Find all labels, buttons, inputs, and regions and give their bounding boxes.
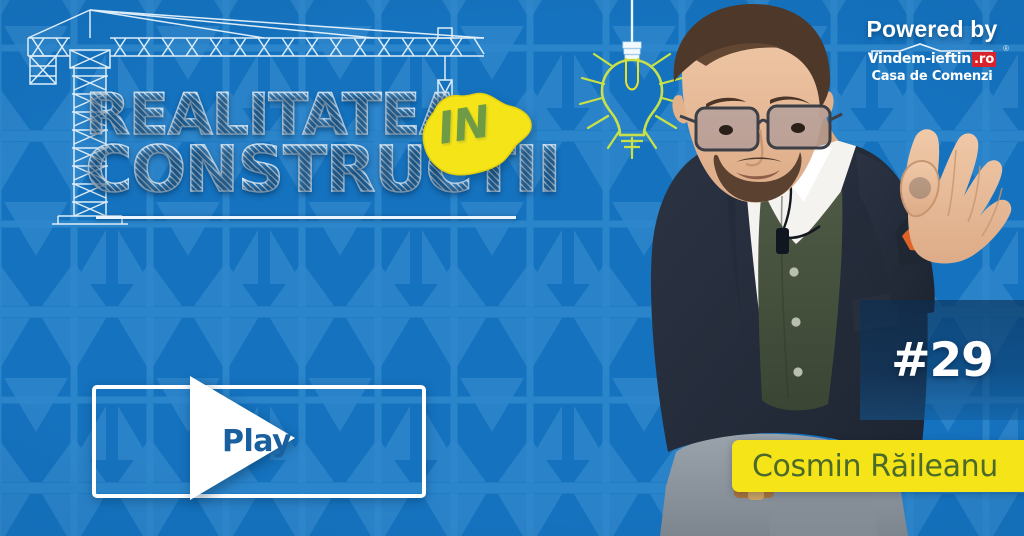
- video-thumbnail: REALITATEA CONSTRUCTII IN Powered by: [0, 0, 1024, 536]
- map-in-word: IN: [434, 96, 493, 154]
- show-logo-block: REALITATEA CONSTRUCTII IN: [14, 4, 574, 244]
- title-underline: [96, 216, 516, 219]
- guest-name: Cosmin Răileanu: [752, 449, 998, 484]
- episode-number: #29: [891, 333, 993, 388]
- play-button-label[interactable]: Play: [222, 424, 291, 459]
- guest-name-banner: Cosmin Răileanu: [732, 440, 1024, 492]
- episode-badge: #29: [860, 300, 1024, 420]
